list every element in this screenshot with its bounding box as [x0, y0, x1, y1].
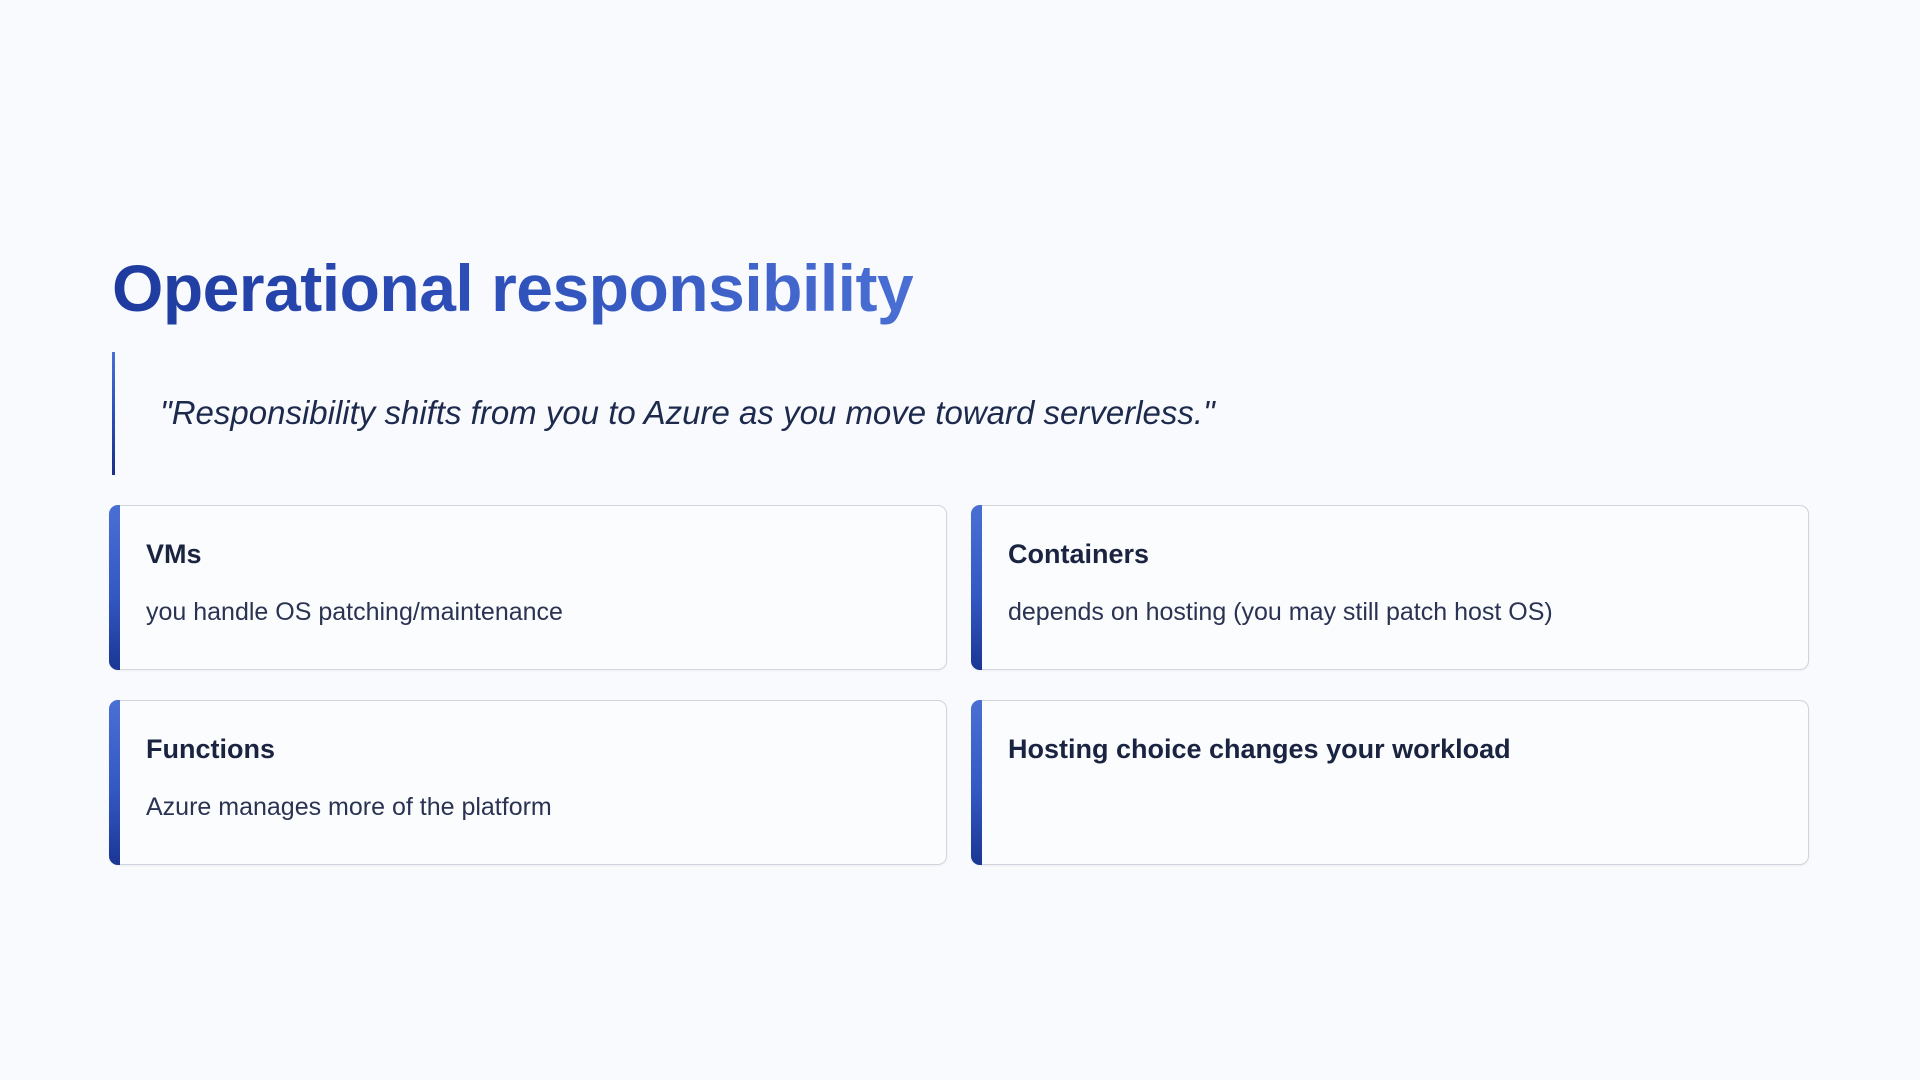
card-accent-bar	[109, 700, 120, 865]
card-body: Azure manages more of the platform	[146, 791, 916, 824]
card-functions[interactable]: Functions Azure manages more of the plat…	[109, 700, 947, 865]
card-title: VMs	[146, 538, 916, 570]
card-accent-bar	[971, 505, 982, 670]
card-accent-bar	[109, 505, 120, 670]
card-hosting-choice[interactable]: Hosting choice changes your workload	[971, 700, 1809, 865]
card-vms[interactable]: VMs you handle OS patching/maintenance	[109, 505, 947, 670]
card-grid: VMs you handle OS patching/maintenance C…	[109, 505, 1809, 865]
page-title: Operational responsibility	[112, 252, 913, 325]
quote-text: "Responsibility shifts from you to Azure…	[160, 391, 1215, 436]
card-accent-bar	[971, 700, 982, 865]
card-title: Functions	[146, 733, 916, 765]
quote-accent-bar	[112, 352, 115, 475]
card-body: you handle OS patching/maintenance	[146, 596, 916, 629]
slide-canvas: Operational responsibility "Responsibili…	[0, 0, 1920, 1080]
card-title: Containers	[1008, 538, 1778, 570]
card-body: depends on hosting (you may still patch …	[1008, 596, 1778, 629]
quote-block: "Responsibility shifts from you to Azure…	[112, 352, 1812, 475]
card-title: Hosting choice changes your workload	[1008, 733, 1778, 765]
card-containers[interactable]: Containers depends on hosting (you may s…	[971, 505, 1809, 670]
